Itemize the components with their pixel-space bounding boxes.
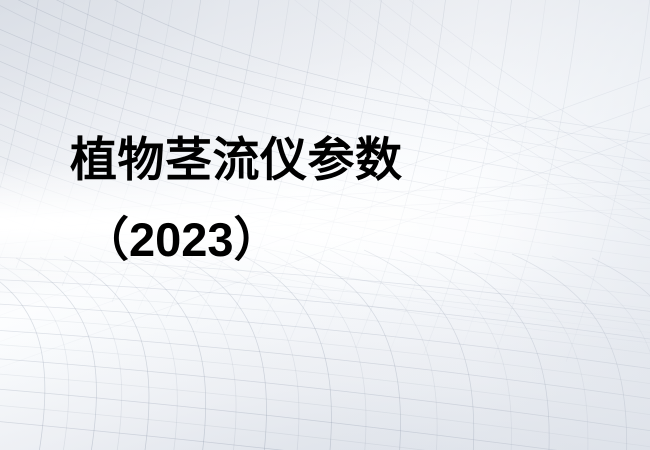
title-slide: 植物茎流仪参数 （2023） bbox=[0, 0, 650, 450]
slide-title-line-2: （2023） bbox=[82, 210, 650, 270]
slide-title-line-1: 植物茎流仪参数 bbox=[70, 130, 650, 190]
title-block: 植物茎流仪参数 （2023） bbox=[0, 130, 650, 270]
